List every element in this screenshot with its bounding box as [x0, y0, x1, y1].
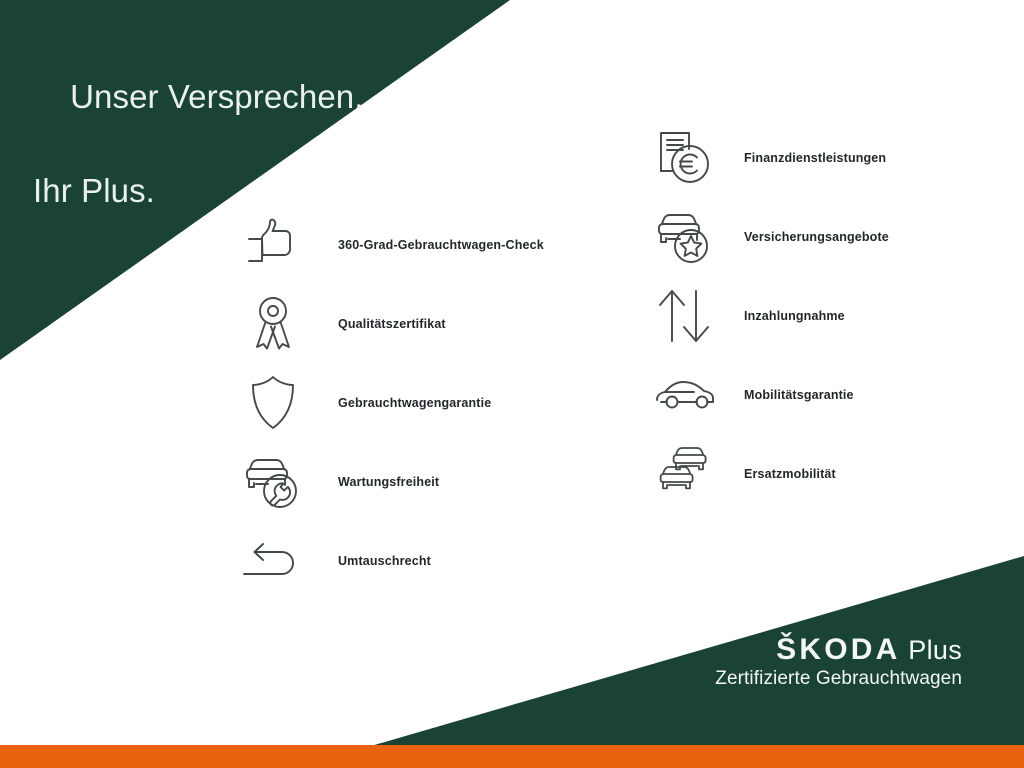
- feature-label: Wartungsfreiheit: [338, 475, 439, 489]
- feature-label: Gebrauchtwagengarantie: [338, 396, 491, 410]
- award-rosette-icon: [240, 293, 306, 355]
- feature-item-versicherungsangebote: Versicherungsangebote: [652, 197, 1012, 276]
- skoda-plus-logo: ŠKODA Plus Zertifizierte Gebrauchtwagen: [715, 634, 962, 691]
- car-wrench-icon: [240, 451, 306, 513]
- document-euro-icon: [652, 127, 718, 189]
- feature-item-mobilitaetsgarantie: Mobilitätsgarantie: [652, 355, 1012, 434]
- headline-line-1: Unser Versprechen.: [70, 78, 363, 115]
- feature-list-left: 360-Grad-Gebrauchtwagen-Check Qualitätsz…: [240, 205, 600, 600]
- feature-label: 360-Grad-Gebrauchtwagen-Check: [338, 238, 544, 252]
- shield-icon: [240, 372, 306, 434]
- logo-brand-name: ŠKODA: [776, 633, 900, 666]
- feature-label: Umtauschrecht: [338, 554, 431, 568]
- feature-label: Versicherungsangebote: [744, 230, 889, 244]
- logo-subtitle: Zertifizierte Gebrauchtwagen: [715, 668, 962, 690]
- feature-item-qualitaetszertifikat: Qualitätszertifikat: [240, 284, 600, 363]
- feature-list-right: Finanzdienstleistungen Versicherungsange…: [652, 118, 1012, 513]
- two-cars-icon: [652, 443, 718, 505]
- feature-item-gebrauchtwagen-check: 360-Grad-Gebrauchtwagen-Check: [240, 205, 600, 284]
- feature-label: Finanzdienstleistungen: [744, 151, 886, 165]
- orange-footer-bar: [0, 745, 1024, 768]
- feature-label: Ersatzmobilität: [744, 467, 836, 481]
- feature-label: Inzahlungnahme: [744, 309, 845, 323]
- return-arrow-icon: [240, 530, 306, 592]
- feature-label: Qualitätszertifikat: [338, 317, 446, 331]
- feature-item-inzahlungnahme: Inzahlungnahme: [652, 276, 1012, 355]
- feature-item-ersatzmobilitaet: Ersatzmobilität: [652, 434, 1012, 513]
- feature-item-gebrauchtwagengarantie: Gebrauchtwagengarantie: [240, 363, 600, 442]
- feature-item-finanzdienstleistungen: Finanzdienstleistungen: [652, 118, 1012, 197]
- logo-brand-line: ŠKODA Plus: [715, 634, 962, 666]
- feature-item-umtauschrecht: Umtauschrecht: [240, 521, 600, 600]
- promo-slide: Unser Versprechen. Ihr Plus. 360-Grad-Ge…: [0, 0, 1024, 768]
- car-side-icon: [652, 364, 718, 426]
- car-star-icon: [652, 206, 718, 268]
- logo-brand-suffix: Plus: [900, 635, 962, 665]
- arrows-up-down-icon: [652, 285, 718, 347]
- feature-item-wartungsfreiheit: Wartungsfreiheit: [240, 442, 600, 521]
- thumbs-up-icon: [240, 214, 306, 276]
- feature-label: Mobilitätsgarantie: [744, 388, 854, 402]
